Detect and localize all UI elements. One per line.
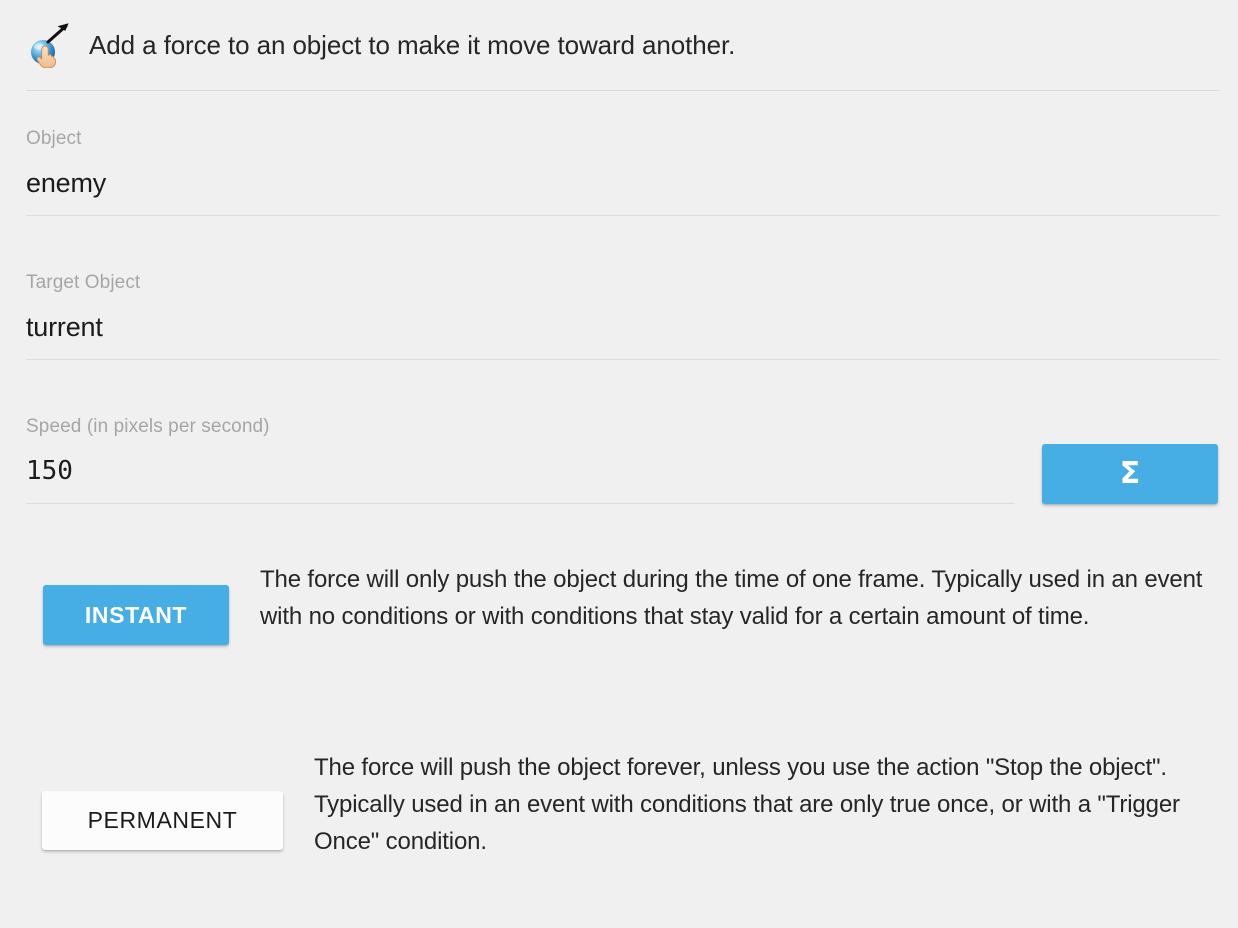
field-speed-label: Speed (in pixels per second): [26, 417, 270, 436]
instant-button[interactable]: INSTANT: [43, 585, 229, 645]
field-speed-value[interactable]: 150: [26, 458, 270, 484]
instant-description: The force will only push the object duri…: [260, 561, 1205, 635]
field-target-object-value[interactable]: turrent: [26, 314, 140, 341]
sigma-icon[interactable]: Σ: [1042, 444, 1218, 504]
field-object-underline: [26, 215, 1220, 216]
permanent-button[interactable]: PERMANENT: [42, 791, 283, 850]
permanent-description: The force will push the object forever, …: [314, 749, 1184, 860]
header-divider: [26, 90, 1220, 91]
field-speed[interactable]: Speed (in pixels per second) 150: [26, 417, 270, 484]
field-object-value[interactable]: enemy: [26, 170, 106, 197]
field-speed-underline: [26, 503, 1015, 504]
field-object[interactable]: Object enemy: [26, 129, 106, 197]
field-object-label: Object: [26, 129, 106, 148]
field-target-object-underline: [26, 359, 1220, 360]
page-title: Add a force to an object to make it move…: [89, 30, 735, 61]
force-toward-object-icon: [26, 20, 74, 68]
dialog-header: Add a force to an object to make it move…: [0, 0, 1238, 91]
field-target-object-label: Target Object: [26, 273, 140, 292]
action-editor-dialog: Add a force to an object to make it move…: [0, 0, 1238, 928]
field-target-object[interactable]: Target Object turrent: [26, 273, 140, 341]
